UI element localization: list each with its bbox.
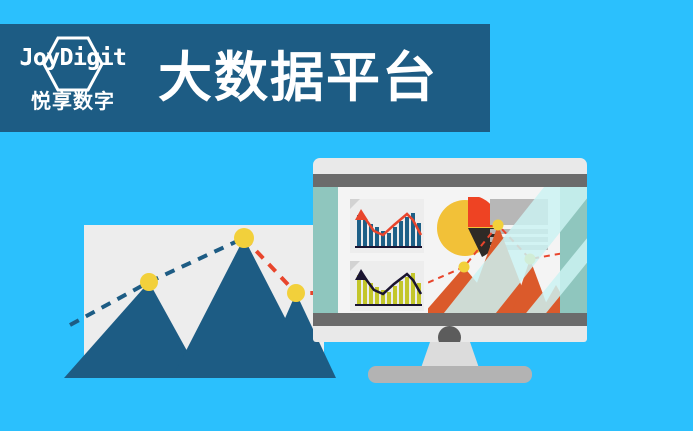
card-fold-corner — [350, 199, 360, 209]
mountain-area-chart-orange — [428, 215, 560, 313]
monitor-top-bar — [313, 174, 587, 187]
screen-content-area — [338, 187, 560, 313]
data-point-marker — [140, 273, 158, 291]
data-point-marker — [287, 284, 305, 302]
monitor-stand-neck — [421, 342, 479, 368]
bar-chart-blue — [350, 199, 424, 253]
brand-logo: JoyDigit 悦享数字 — [12, 32, 134, 124]
header-banner: JoyDigit 悦享数字 大数据平台 — [0, 24, 490, 132]
poster-canvas: JoyDigit 悦享数字 大数据平台 — [0, 0, 693, 431]
page-title: 大数据平台 — [158, 51, 438, 105]
bar-chart-yellow — [350, 261, 424, 311]
card-fold-corner — [350, 261, 360, 271]
mountain-area-chart — [84, 225, 324, 378]
data-point-marker — [234, 228, 254, 248]
monitor-bottom-bar — [313, 313, 587, 326]
data-point-marker — [493, 220, 504, 231]
monitor-stand-base — [368, 366, 532, 383]
mini-card-blue-bar-chart[interactable] — [350, 199, 424, 253]
data-point-marker — [459, 262, 470, 273]
data-point-marker — [525, 254, 536, 265]
mini-card-yellow-bar-chart[interactable] — [350, 261, 424, 311]
monitor-illustration — [313, 158, 587, 342]
arrow-up-icon — [355, 209, 368, 220]
logo-chinese-text: 悦享数字 — [31, 92, 115, 112]
monitor-screen — [313, 187, 587, 313]
mountain-chart-panel — [84, 225, 324, 378]
logo-latin-text: JoyDigit — [20, 47, 127, 70]
